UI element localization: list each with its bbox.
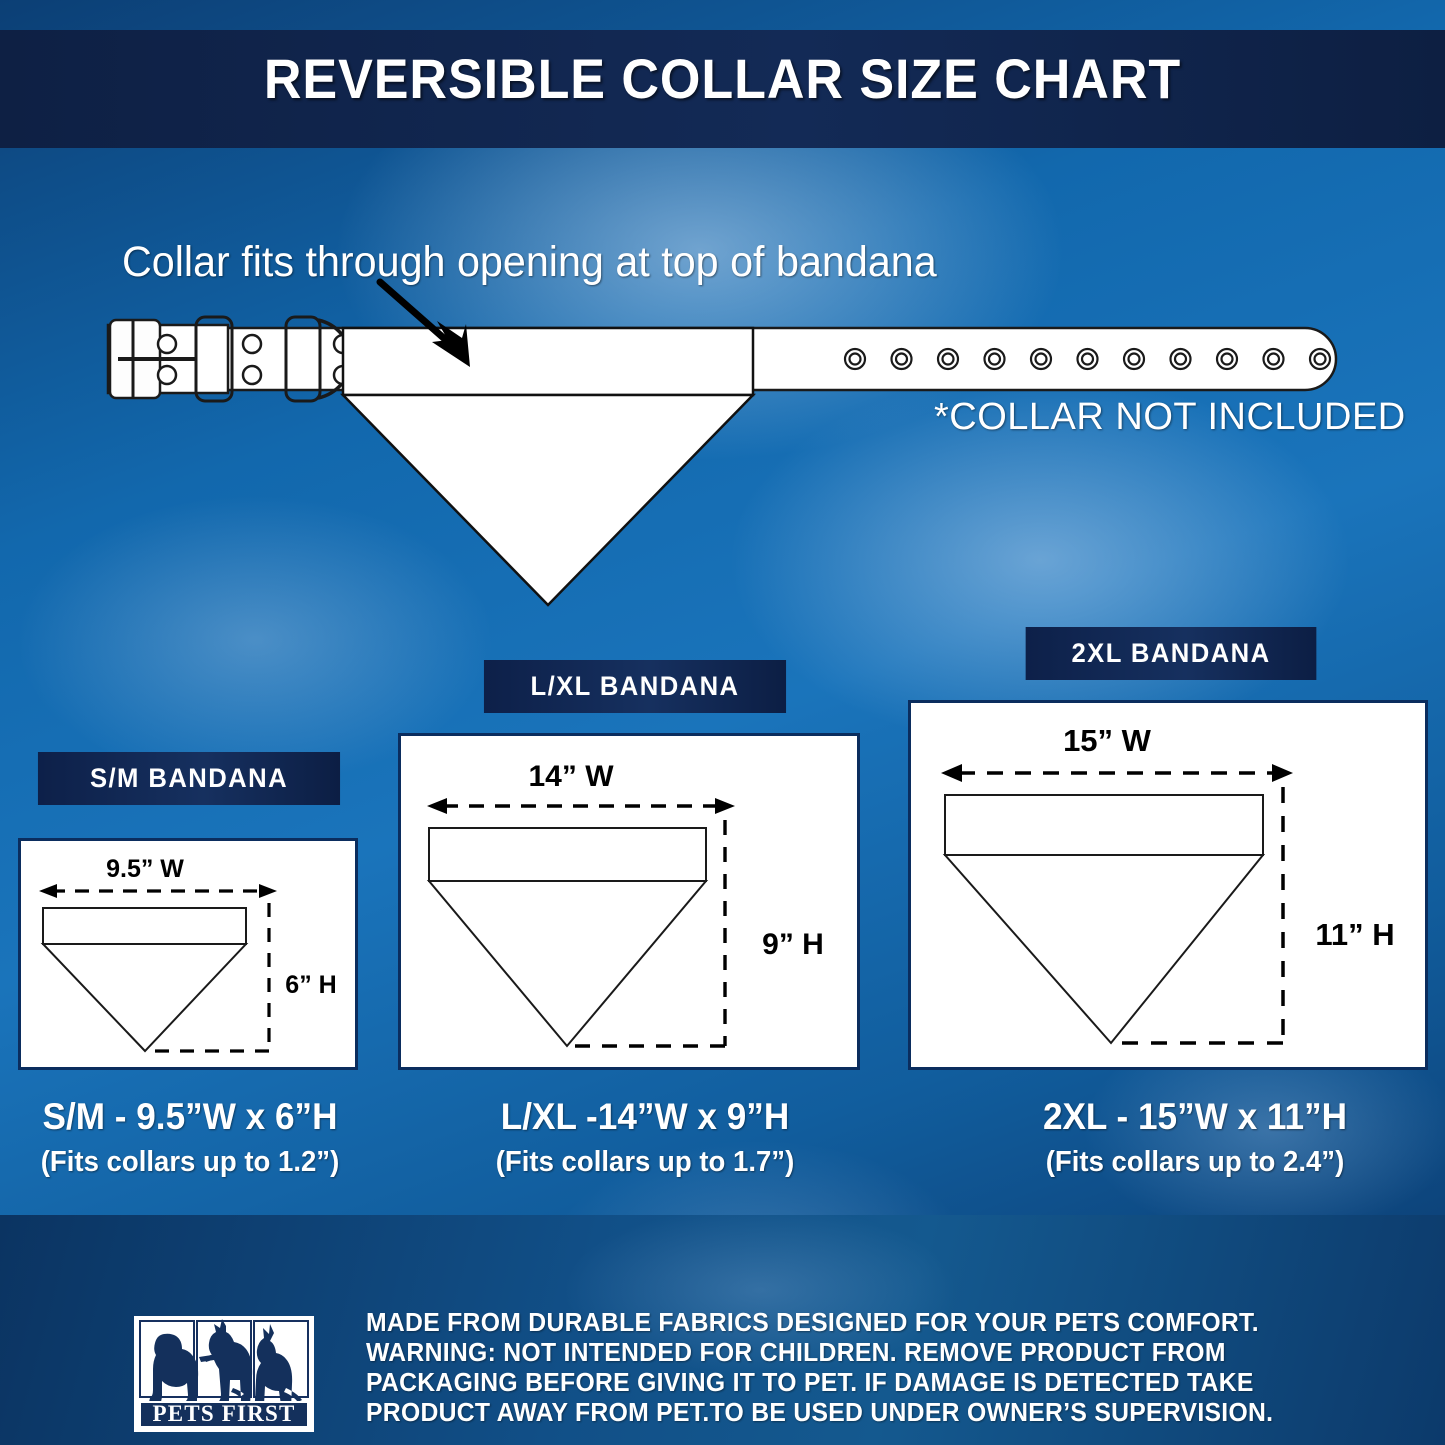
page-title: REVERSIBLE COLLAR SIZE CHART [51, 46, 1395, 111]
disclaimer-line-3: PACKAGING BEFORE GIVING IT TO PET. IF DA… [366, 1368, 1326, 1398]
bandana-triangle [343, 395, 753, 605]
collar-not-included-note: *COLLAR NOT INCLUDED [934, 396, 1406, 439]
footer-disclaimer: MADE FROM DURABLE FABRICS DESIGNED FOR Y… [366, 1308, 1326, 1428]
size-caption-lxl: L/XL -14”W x 9”H [431, 1096, 859, 1138]
disclaimer-line-1: MADE FROM DURABLE FABRICS DESIGNED FOR Y… [366, 1308, 1326, 1338]
collar-hole-inner [1175, 354, 1186, 365]
size-panel-lxl: 14” W 9” H [398, 733, 860, 1070]
lxl-height-label: 9” H [762, 928, 824, 961]
size-subcaption-2xl: (Fits collars up to 2.4”) [962, 1146, 1428, 1179]
size-label-lxl: L/XL BANDANA [484, 660, 786, 713]
disclaimer-line-2: WARNING: NOT INTENDED FOR CHILDREN. REMO… [366, 1338, 1326, 1368]
size-caption-2xl: 2XL - 15”W x 11”H [962, 1096, 1428, 1138]
sm-height-label: 6” H [285, 971, 336, 999]
lxl-width-label: 14” W [528, 760, 614, 793]
pets-first-logo: PETS FIRST [134, 1316, 314, 1432]
collar-hole-inner [989, 354, 1000, 365]
collar-hole-inner [943, 354, 954, 365]
size-label-lxl-text: L/XL BANDANA [531, 671, 740, 702]
logo-wordmark-text: PETS FIRST [152, 1401, 295, 1426]
size-caption-sm: S/M - 9.5”W x 6”H [10, 1096, 371, 1138]
disclaimer-line-4: PRODUCT AWAY FROM PET.TO BE USED UNDER O… [366, 1398, 1326, 1428]
xxl-width-label: 15” W [1063, 723, 1152, 758]
size-subcaption-lxl: (Fits collars up to 1.7”) [431, 1146, 859, 1179]
collar-hole-inner [1315, 354, 1326, 365]
size-label-2xl: 2XL BANDANA [1026, 627, 1317, 680]
collar-hole-inner [1268, 354, 1279, 365]
collar-hole-inner [1082, 354, 1093, 365]
size-panel-sm: 9.5” W 6” H [18, 838, 358, 1070]
sm-width-label: 9.5” W [106, 855, 184, 883]
size-label-2xl-text: 2XL BANDANA [1071, 638, 1270, 669]
collar-hole-inner [1129, 354, 1140, 365]
collar-hole-inner [1036, 354, 1047, 365]
bandana-sleeve [343, 328, 753, 395]
collar-hole-inner [1222, 354, 1233, 365]
size-label-sm: S/M BANDANA [38, 752, 340, 805]
size-panel-2xl: 15” W 11” H [908, 700, 1428, 1070]
size-label-sm-text: S/M BANDANA [90, 763, 288, 794]
bandana-on-collar [343, 328, 753, 605]
size-subcaption-sm: (Fits collars up to 1.2”) [10, 1146, 371, 1179]
xxl-height-label: 11” H [1315, 917, 1394, 952]
collar-hole-inner [850, 354, 861, 365]
collar-hole-inner [896, 354, 907, 365]
